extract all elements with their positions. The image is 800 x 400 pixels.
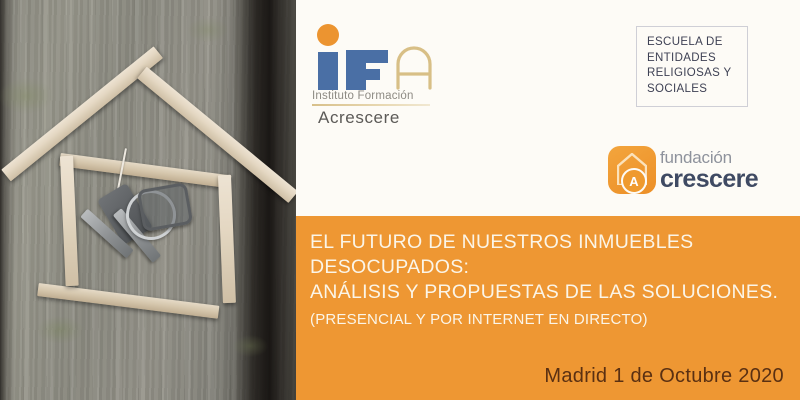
wall-stick-top [59,153,231,188]
fundacion-crescere-logo: A fundación crescere [608,144,790,198]
fundacion-mark-icon: A [608,146,656,194]
key-head-icon [137,182,194,232]
fundacion-letter-a-glyph: A [629,175,638,188]
ifa-mark [310,24,450,90]
ifa-letter-f-top-icon [346,50,388,63]
banner-text-block: EL FUTURO DE NUESTROS INMUEBLES DESOCUPA… [310,230,796,332]
banner-title-line-1: EL FUTURO DE NUESTROS INMUEBLES [310,230,796,255]
fundacion-letter-a-icon: A [621,168,647,194]
wall-stick-left [60,156,79,286]
banner-title-line-3: ANÁLISIS Y PROPUESTAS DE LAS SOLUCIONES. [310,280,796,305]
escuela-line-3: RELIGIOSAS Y [647,66,738,82]
ifa-brand-name: Acrescere [310,108,450,128]
wall-stick-bottom [37,283,219,319]
banner-title-line-2: DESOCUPADOS: [310,255,796,280]
escuela-line-2: ENTIDADES [647,51,738,67]
fundacion-word-crescere: crescere [660,165,758,194]
ifa-subtitle: Instituto Formación [310,90,450,102]
ifa-letter-f-mid-icon [346,69,380,80]
ifa-letter-a-icon [392,46,436,90]
escuela-line-1: ESCUELA DE [647,35,738,51]
title-banner: EL FUTURO DE NUESTROS INMUEBLES DESOCUPA… [296,216,800,400]
ifa-logo: Instituto Formación Acrescere [310,24,450,128]
banner-subtitle: (PRESENCIAL Y POR INTERNET EN DIRECTO) [310,307,796,332]
header-panel: Instituto Formación Acrescere ESCUELA DE… [296,0,800,216]
event-poster: Instituto Formación Acrescere ESCUELA DE… [0,0,800,400]
house-keys-photo [0,0,296,400]
wall-stick-right [218,175,236,303]
ifa-letter-i-icon [318,52,338,90]
ifa-divider [312,104,430,106]
event-date: Madrid 1 de Octubre 2020 [544,365,784,388]
escuela-line-4: SOCIALES [647,82,738,98]
escuela-logo-box: ESCUELA DE ENTIDADES RELIGIOSAS Y SOCIAL… [636,26,748,107]
ifa-dot-icon [317,24,339,46]
